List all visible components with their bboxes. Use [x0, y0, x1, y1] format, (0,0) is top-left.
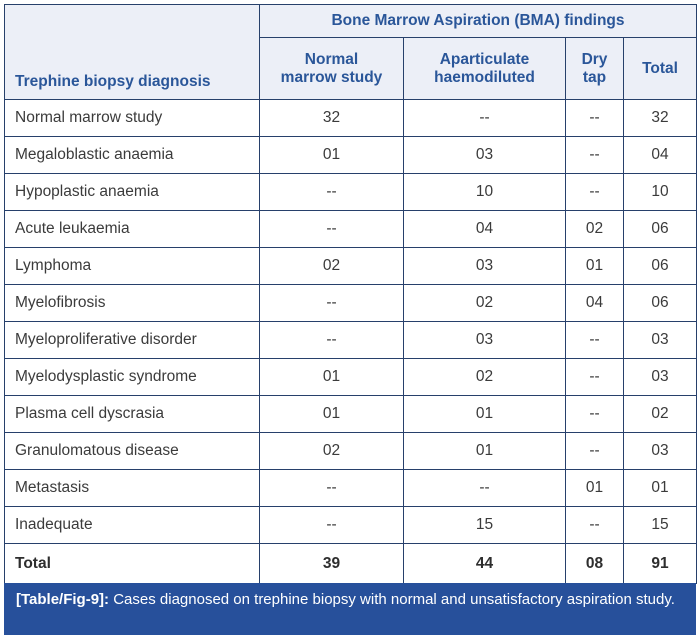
cell-diagnosis: Acute leukaemia: [5, 211, 260, 248]
cell-normal-marrow-study: 02: [260, 248, 404, 285]
cell-aparticulate-haemodiluted: 03: [404, 137, 566, 174]
table-row: Megaloblastic anaemia 01 03 -- 04: [5, 137, 697, 174]
cell-total: 03: [624, 322, 697, 359]
cell-dry-tap: --: [566, 174, 624, 211]
cell-dry-tap: --: [566, 433, 624, 470]
cell-aparticulate-haemodiluted: 10: [404, 174, 566, 211]
cell-normal-marrow-study: 32: [260, 100, 404, 137]
figure-caption: [Table/Fig-9]: Cases diagnosed on trephi…: [4, 583, 696, 635]
cell-aparticulate-haemodiluted: 01: [404, 396, 566, 433]
cell-aparticulate-haemodiluted: --: [404, 100, 566, 137]
cell-diagnosis: Normal marrow study: [5, 100, 260, 137]
cell-normal-marrow-study: 01: [260, 396, 404, 433]
cell-dry-tap: --: [566, 137, 624, 174]
cell-total: 03: [624, 359, 697, 396]
cell-normal-marrow-study: 01: [260, 137, 404, 174]
cell-diagnosis: Myelofibrosis: [5, 285, 260, 322]
cell-normal-marrow-study: --: [260, 285, 404, 322]
cell-diagnosis: Inadequate: [5, 507, 260, 544]
header-line-2: haemodiluted: [434, 69, 535, 86]
table-row: Myeloproliferative disorder -- 03 -- 03: [5, 322, 697, 359]
column-group-header-bma-findings: Bone Marrow Aspiration (BMA) findings: [260, 5, 697, 38]
cell-aparticulate-haemodiluted: 04: [404, 211, 566, 248]
table-body: Normal marrow study 32 -- -- 32 Megalobl…: [5, 100, 697, 584]
cell-dry-tap: --: [566, 100, 624, 137]
column-header-aparticulate-haemodiluted: Aparticulate haemodiluted: [404, 38, 566, 100]
column-header-dry-tap: Dry tap: [566, 38, 624, 100]
cell-normal-marrow-study: --: [260, 507, 404, 544]
cell-total-aparticulate-haemodiluted: 44: [404, 544, 566, 584]
table-container: Trephine biopsy diagnosis Bone Marrow As…: [4, 4, 696, 584]
cell-diagnosis: Megaloblastic anaemia: [5, 137, 260, 174]
cell-diagnosis: Plasma cell dyscrasia: [5, 396, 260, 433]
table-row: Hypoplastic anaemia -- 10 -- 10: [5, 174, 697, 211]
cell-total-label: Total: [5, 544, 260, 584]
cell-diagnosis: Granulomatous disease: [5, 433, 260, 470]
table-row: Inadequate -- 15 -- 15: [5, 507, 697, 544]
header-line-2: tap: [583, 69, 606, 86]
table-row: Acute leukaemia -- 04 02 06: [5, 211, 697, 248]
cell-normal-marrow-study: --: [260, 174, 404, 211]
cell-normal-marrow-study: 02: [260, 433, 404, 470]
cell-diagnosis: Metastasis: [5, 470, 260, 507]
cell-dry-tap: 04: [566, 285, 624, 322]
cell-total: 06: [624, 211, 697, 248]
cell-total: 02: [624, 396, 697, 433]
header-line-1: Dry: [582, 51, 608, 68]
header-line-1: Aparticulate: [440, 51, 530, 68]
table-row: Plasma cell dyscrasia 01 01 -- 02: [5, 396, 697, 433]
table-row: Myelofibrosis -- 02 04 06: [5, 285, 697, 322]
cell-dry-tap: 01: [566, 470, 624, 507]
table-total-row: Total 39 44 08 91: [5, 544, 697, 584]
cell-total: 06: [624, 248, 697, 285]
cell-total: 32: [624, 100, 697, 137]
cell-dry-tap: --: [566, 359, 624, 396]
header-line-1: Total: [642, 60, 678, 77]
cell-aparticulate-haemodiluted: 15: [404, 507, 566, 544]
table-row: Normal marrow study 32 -- -- 32: [5, 100, 697, 137]
cell-total-normal-marrow-study: 39: [260, 544, 404, 584]
header-row-group: Trephine biopsy diagnosis Bone Marrow As…: [5, 5, 697, 38]
caption-label: [Table/Fig-9]:: [16, 591, 109, 608]
cell-aparticulate-haemodiluted: 03: [404, 248, 566, 285]
caption-text: Cases diagnosed on trephine biopsy with …: [109, 591, 675, 608]
cell-dry-tap: 02: [566, 211, 624, 248]
cell-normal-marrow-study: --: [260, 470, 404, 507]
cell-total: 06: [624, 285, 697, 322]
cell-aparticulate-haemodiluted: 01: [404, 433, 566, 470]
header-line-2: marrow study: [281, 69, 383, 86]
column-header-normal-marrow-study: Normal marrow study: [260, 38, 404, 100]
cell-dry-tap: 01: [566, 248, 624, 285]
table-row: Myelodysplastic syndrome 01 02 -- 03: [5, 359, 697, 396]
cell-aparticulate-haemodiluted: 02: [404, 285, 566, 322]
cell-normal-marrow-study: --: [260, 211, 404, 248]
cell-diagnosis: Lymphoma: [5, 248, 260, 285]
cell-diagnosis: Myeloproliferative disorder: [5, 322, 260, 359]
cell-aparticulate-haemodiluted: --: [404, 470, 566, 507]
table-row: Metastasis -- -- 01 01: [5, 470, 697, 507]
column-header-total: Total: [624, 38, 697, 100]
column-header-trephine-biopsy-diagnosis: Trephine biopsy diagnosis: [5, 5, 260, 100]
table-figure: Trephine biopsy diagnosis Bone Marrow As…: [0, 0, 700, 639]
cell-dry-tap: --: [566, 322, 624, 359]
table-header: Trephine biopsy diagnosis Bone Marrow As…: [5, 5, 697, 100]
cell-aparticulate-haemodiluted: 03: [404, 322, 566, 359]
bma-findings-table: Trephine biopsy diagnosis Bone Marrow As…: [4, 4, 697, 584]
cell-normal-marrow-study: --: [260, 322, 404, 359]
header-line-1: Normal: [305, 51, 358, 68]
cell-dry-tap: --: [566, 396, 624, 433]
cell-diagnosis: Myelodysplastic syndrome: [5, 359, 260, 396]
cell-normal-marrow-study: 01: [260, 359, 404, 396]
table-row: Lymphoma 02 03 01 06: [5, 248, 697, 285]
cell-diagnosis: Hypoplastic anaemia: [5, 174, 260, 211]
cell-aparticulate-haemodiluted: 02: [404, 359, 566, 396]
cell-total-dry-tap: 08: [566, 544, 624, 584]
table-row: Granulomatous disease 02 01 -- 03: [5, 433, 697, 470]
cell-total: 15: [624, 507, 697, 544]
cell-total-grand: 91: [624, 544, 697, 584]
cell-total: 04: [624, 137, 697, 174]
cell-total: 03: [624, 433, 697, 470]
cell-total: 01: [624, 470, 697, 507]
cell-total: 10: [624, 174, 697, 211]
cell-dry-tap: --: [566, 507, 624, 544]
